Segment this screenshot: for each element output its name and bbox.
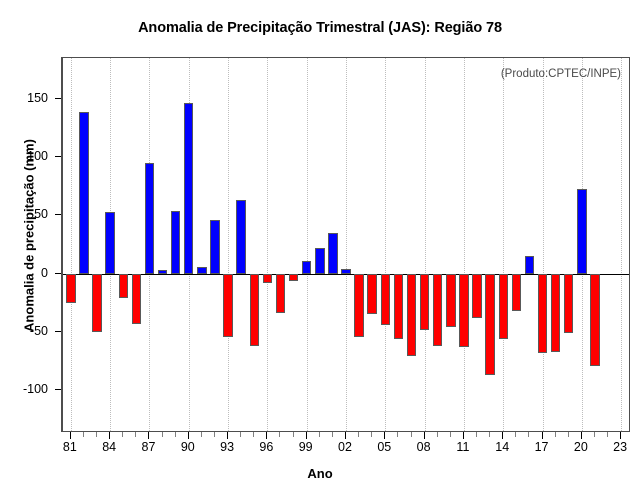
x-tick-label: 23 — [613, 440, 627, 454]
bar-2003 — [354, 274, 363, 337]
bar-1996 — [263, 274, 272, 283]
bar-2004 — [367, 274, 376, 315]
x-tick-label: 90 — [181, 440, 195, 454]
bar-1997 — [276, 274, 285, 314]
x-tick-label: 84 — [102, 440, 116, 454]
x-tick-mark — [542, 432, 543, 439]
x-tick-label: 96 — [259, 440, 273, 454]
x-tick-mark — [319, 432, 320, 437]
bar-2005 — [381, 274, 390, 325]
bar-2013 — [485, 274, 494, 375]
bar-1993 — [223, 274, 232, 337]
bar-2014 — [499, 274, 508, 339]
bar-2012 — [472, 274, 481, 318]
x-tick-mark — [135, 432, 136, 437]
x-tick-mark — [96, 432, 97, 437]
gridline — [385, 58, 386, 431]
gridline — [307, 58, 308, 431]
x-tick-mark — [555, 432, 556, 437]
x-tick-label: 17 — [535, 440, 549, 454]
chart-figure: Anomalia de Precipitação Trimestral (JAS… — [0, 0, 640, 500]
x-tick-mark — [227, 432, 228, 439]
x-tick-mark — [371, 432, 372, 437]
x-tick-mark — [384, 432, 385, 439]
x-tick-mark — [515, 432, 516, 437]
x-tick-mark — [568, 432, 569, 437]
bar-2001 — [328, 233, 337, 274]
x-tick-mark — [83, 432, 84, 437]
y-axis-title: Anomalia de precipitação (mm) — [22, 56, 37, 416]
x-axis-labels: 818487909396990205081114172023 — [62, 440, 630, 458]
x-tick-mark — [201, 432, 202, 437]
bar-1998 — [289, 274, 298, 281]
bar-2021 — [590, 274, 599, 366]
x-tick-label: 05 — [377, 440, 391, 454]
x-tick-mark — [175, 432, 176, 437]
bar-2010 — [446, 274, 455, 328]
x-tick-label: 81 — [63, 440, 77, 454]
x-tick-label: 20 — [574, 440, 588, 454]
gridline — [543, 58, 544, 431]
x-tick-label: 99 — [299, 440, 313, 454]
x-tick-label: 93 — [220, 440, 234, 454]
bar-2019 — [564, 274, 573, 333]
bar-1990 — [184, 103, 193, 273]
x-tick-label: 14 — [495, 440, 509, 454]
x-tick-label: 87 — [142, 440, 156, 454]
bar-2016 — [525, 256, 534, 273]
gridline — [503, 58, 504, 431]
x-tick-mark — [279, 432, 280, 437]
producer-annotation: (Produto:CPTEC/INPE) — [501, 68, 621, 80]
bar-1995 — [250, 274, 259, 346]
gridline — [464, 58, 465, 431]
bar-2011 — [459, 274, 468, 347]
x-tick-mark — [620, 432, 621, 439]
x-tick-mark — [397, 432, 398, 437]
x-tick-mark — [463, 432, 464, 439]
x-tick-label: 08 — [417, 440, 431, 454]
x-tick-mark — [489, 432, 490, 437]
x-tick-mark — [450, 432, 451, 437]
x-tick-mark — [240, 432, 241, 437]
x-tick-mark — [266, 432, 267, 439]
x-tick-mark — [253, 432, 254, 437]
x-axis-title: Ano — [0, 466, 640, 481]
bar-1984 — [105, 212, 114, 274]
bar-2020 — [577, 189, 586, 274]
bar-2007 — [407, 274, 416, 357]
bar-1981 — [66, 274, 75, 303]
gridline — [425, 58, 426, 431]
x-tick-mark — [332, 432, 333, 437]
x-tick-mark — [607, 432, 608, 437]
x-tick-mark — [70, 432, 71, 439]
bar-1994 — [236, 200, 245, 273]
bar-1985 — [119, 274, 128, 298]
x-tick-mark — [476, 432, 477, 437]
x-tick-mark — [358, 432, 359, 437]
bar-1992 — [210, 220, 219, 274]
bar-1983 — [92, 274, 101, 332]
x-tick-mark — [148, 432, 149, 439]
bar-1982 — [79, 112, 88, 274]
x-tick-mark — [528, 432, 529, 437]
x-tick-mark — [594, 432, 595, 437]
x-tick-mark — [345, 432, 346, 439]
bar-1991 — [197, 267, 206, 274]
bar-1987 — [145, 163, 154, 274]
x-tick-mark — [437, 432, 438, 437]
bar-1999 — [302, 261, 311, 274]
bar-1986 — [132, 274, 141, 324]
x-tick-mark — [306, 432, 307, 439]
plot-area: (Produto:CPTEC/INPE) — [62, 57, 630, 432]
x-tick-mark — [109, 432, 110, 439]
x-tick-mark — [214, 432, 215, 437]
page-title: Anomalia de Precipitação Trimestral (JAS… — [0, 20, 640, 36]
x-tick-label: 11 — [456, 440, 469, 454]
bar-2008 — [420, 274, 429, 330]
bar-2015 — [512, 274, 521, 311]
bar-1989 — [171, 211, 180, 274]
x-tick-mark — [293, 432, 294, 437]
x-axis-ticks — [62, 432, 630, 440]
x-tick-mark — [581, 432, 582, 439]
gridline — [228, 58, 229, 431]
x-tick-mark — [162, 432, 163, 437]
gridline — [346, 58, 347, 431]
x-tick-mark — [502, 432, 503, 439]
bar-1988 — [158, 270, 167, 273]
x-tick-mark — [188, 432, 189, 439]
gridline — [267, 58, 268, 431]
gridline — [71, 58, 72, 431]
x-tick-label: 02 — [338, 440, 352, 454]
x-tick-mark — [424, 432, 425, 439]
gridline — [621, 58, 622, 431]
bar-2018 — [551, 274, 560, 352]
bar-2002 — [341, 269, 350, 274]
bar-2006 — [394, 274, 403, 339]
bar-2000 — [315, 248, 324, 274]
bar-2009 — [433, 274, 442, 346]
bar-2017 — [538, 274, 547, 353]
x-tick-mark — [411, 432, 412, 437]
x-tick-mark — [122, 432, 123, 437]
